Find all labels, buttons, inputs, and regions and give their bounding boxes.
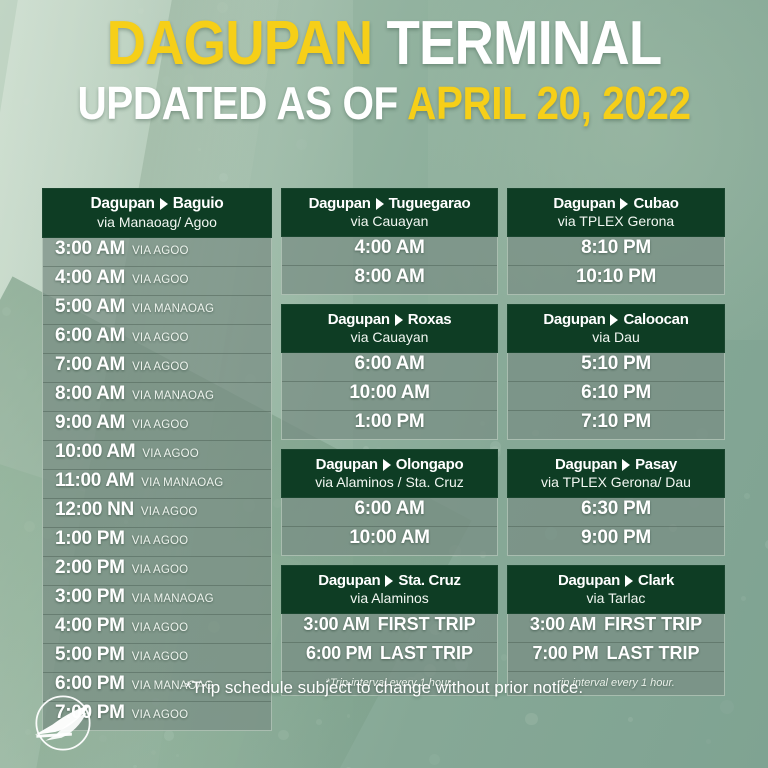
table-row: 8:10 PM (508, 237, 724, 266)
title-line-2: UPDATED AS OF APRIL 20, 2022 (69, 80, 699, 126)
table-row: 6:00 PMLAST TRIP (282, 643, 497, 672)
schedule-board: DagupanBaguiovia Manaoag/ Agoo3:00 AMVIA… (42, 188, 726, 731)
route-note: VIA AGOO (132, 274, 189, 286)
bird-swoosh-logo (26, 686, 100, 760)
table-row: 10:00 AM (282, 527, 497, 555)
route-destination: Tuguegarao (389, 195, 471, 212)
route-origin: Dagupan (555, 456, 617, 473)
route-via: via Alaminos / Sta. Cruz (285, 474, 494, 490)
departure-time: 4:00 PM (55, 615, 125, 637)
route-section-sta-cruz: DagupanSta. Cruzvia Alaminos3:00 AMFIRST… (281, 565, 498, 696)
route-section-clark: DagupanClarkvia Tarlac3:00 AMFIRST TRIP7… (507, 565, 725, 696)
departure-times-list: 3:00 AMVIA AGOO4:00 AMVIA AGOO5:00 AMVIA… (42, 238, 272, 731)
departure-time: 8:00 AM (55, 383, 125, 405)
arrow-right-icon (610, 314, 618, 326)
route-origin: Dagupan (316, 456, 378, 473)
route-destination: Roxas (408, 311, 452, 328)
title-updated-as-of: UPDATED AS OF (77, 77, 397, 129)
departure-time: 7:00 PM (533, 643, 599, 664)
table-row: 5:00 AMVIA MANAOAG (43, 296, 271, 325)
table-row: 10:00 AM (282, 382, 497, 411)
arrow-right-icon (160, 198, 168, 210)
departure-times-list: 6:00 AM10:00 AM (281, 498, 498, 556)
arrow-right-icon (395, 314, 403, 326)
route-header: DagupanOlongapovia Alaminos / Sta. Cruz (281, 449, 498, 498)
departure-time: 7:10 PM (581, 411, 651, 433)
route-header: DagupanPasayvia TPLEX Gerona/ Dau (507, 449, 725, 498)
route-origin: Dagupan (543, 311, 605, 328)
route-section-caloocan: DagupanCaloocanvia Dau5:10 PM6:10 PM7:10… (507, 304, 725, 440)
route-title: DagupanSta. Cruz (285, 572, 494, 589)
table-row: 6:00 AMVIA AGOO (43, 325, 271, 354)
route-via: via Dau (511, 329, 721, 345)
table-row: 1:00 PM (282, 411, 497, 439)
route-header: DagupanBaguiovia Manaoag/ Agoo (42, 188, 272, 238)
route-via: via TPLEX Gerona (511, 213, 721, 229)
route-title: DagupanPasay (511, 456, 721, 473)
departure-time: 6:00 AM (55, 325, 125, 347)
route-via: via TPLEX Gerona/ Dau (511, 474, 721, 490)
departure-time: 11:00 AM (55, 470, 134, 492)
route-note: VIA MANAOAG (132, 303, 214, 315)
table-row: 7:00 AMVIA AGOO (43, 354, 271, 383)
route-note: VIA MANAOAG (141, 477, 223, 489)
table-row: 9:00 PM (508, 527, 724, 555)
table-row: 10:10 PM (508, 266, 724, 294)
departure-time: 5:00 PM (55, 644, 125, 666)
table-row: 7:10 PM (508, 411, 724, 439)
route-header: DagupanClarkvia Tarlac (507, 565, 725, 614)
route-section-pasay: DagupanPasayvia TPLEX Gerona/ Dau6:30 PM… (507, 449, 725, 556)
route-via: via Manaoag/ Agoo (46, 214, 268, 230)
departure-time: 6:00 AM (354, 353, 424, 375)
arrow-right-icon (625, 575, 633, 587)
table-row: 4:00 AM (282, 237, 497, 266)
departure-times-list: 6:00 AM10:00 AM1:00 PM (281, 353, 498, 440)
route-note: VIA AGOO (132, 535, 189, 547)
route-title: DagupanRoxas (285, 311, 494, 328)
column-1: DagupanBaguiovia Manaoag/ Agoo3:00 AMVIA… (42, 188, 272, 731)
title-dagupan: DAGUPAN (107, 9, 373, 78)
departure-time: 10:10 PM (576, 266, 656, 288)
route-origin: Dagupan (91, 195, 155, 213)
route-origin: Dagupan (309, 195, 371, 212)
departure-time: 4:00 AM (55, 267, 125, 289)
table-row: 7:00 PMLAST TRIP (508, 643, 724, 672)
departure-time: 1:00 PM (355, 411, 425, 433)
arrow-right-icon (620, 198, 628, 210)
route-note: VIA AGOO (132, 564, 189, 576)
table-row: 12:00 NNVIA AGOO (43, 499, 271, 528)
departure-time: 10:00 AM (55, 441, 135, 463)
disclaimer-note: *Trip schedule subject to change without… (0, 678, 768, 698)
trip-label: FIRST TRIP (378, 614, 476, 635)
route-section-cubao: DagupanCubaovia TPLEX Gerona8:10 PM10:10… (507, 188, 725, 295)
arrow-right-icon (385, 575, 393, 587)
departure-times-list: 6:30 PM9:00 PM (507, 498, 725, 556)
route-note: VIA AGOO (132, 709, 189, 721)
departure-time: 2:00 PM (55, 557, 125, 579)
route-section-roxas: DagupanRoxasvia Cauayan6:00 AM10:00 AM1:… (281, 304, 498, 440)
departure-time: 6:00 PM (306, 643, 372, 664)
table-row: 10:00 AMVIA AGOO (43, 441, 271, 470)
arrow-right-icon (376, 198, 384, 210)
route-origin: Dagupan (558, 572, 620, 589)
route-via: via Tarlac (511, 590, 721, 606)
departure-time: 6:00 AM (354, 498, 424, 520)
departure-time: 10:00 AM (349, 527, 429, 549)
table-row: 9:00 AMVIA AGOO (43, 412, 271, 441)
departure-time: 7:00 AM (55, 354, 125, 376)
route-destination: Clark (638, 572, 674, 589)
table-row: 11:00 AMVIA MANAOAG (43, 470, 271, 499)
route-note: VIA AGOO (132, 419, 189, 431)
route-note: VIA AGOO (132, 361, 189, 373)
route-title: DagupanTuguegarao (285, 195, 494, 212)
table-row: 6:00 AM (282, 353, 497, 382)
route-note: VIA MANAOAG (132, 390, 214, 402)
departure-time: 8:10 PM (581, 237, 651, 259)
route-note: VIA AGOO (142, 448, 199, 460)
trip-label: LAST TRIP (606, 643, 699, 664)
route-destination: Pasay (635, 456, 677, 473)
route-title: DagupanCubao (511, 195, 721, 212)
departure-time: 3:00 AM (303, 614, 369, 635)
departure-time: 5:10 PM (581, 353, 651, 375)
route-note: VIA AGOO (141, 506, 198, 518)
route-destination: Cubao (633, 195, 678, 212)
departure-time: 12:00 NN (55, 499, 134, 521)
departure-time: 9:00 PM (581, 527, 651, 549)
route-note: VIA AGOO (132, 622, 189, 634)
table-row: 6:00 AM (282, 498, 497, 527)
departure-times-list: 5:10 PM6:10 PM7:10 PM (507, 353, 725, 440)
table-row: 4:00 AMVIA AGOO (43, 267, 271, 296)
title-date: APRIL 20, 2022 (407, 77, 690, 129)
departure-time: 3:00 AM (55, 238, 125, 260)
route-title: DagupanBaguio (46, 195, 268, 213)
departure-time: 8:00 AM (354, 266, 424, 288)
route-origin: Dagupan (553, 195, 615, 212)
table-row: 3:00 AMVIA AGOO (43, 238, 271, 267)
column-3: DagupanCubaovia TPLEX Gerona8:10 PM10:10… (507, 188, 725, 731)
departure-time: 9:00 AM (55, 412, 125, 434)
route-note: VIA MANAOAG (132, 593, 214, 605)
route-note: VIA AGOO (132, 332, 189, 344)
route-note: VIA AGOO (132, 245, 189, 257)
table-row: 4:00 PMVIA AGOO (43, 615, 271, 644)
departure-time: 6:30 PM (581, 498, 651, 520)
table-row: 2:00 PMVIA AGOO (43, 557, 271, 586)
table-row: 8:00 AMVIA MANAOAG (43, 383, 271, 412)
table-row: 6:30 PM (508, 498, 724, 527)
route-via: via Cauayan (285, 213, 494, 229)
table-row: 3:00 PMVIA MANAOAG (43, 586, 271, 615)
route-title: DagupanClark (511, 572, 721, 589)
route-header: DagupanCubaovia TPLEX Gerona (507, 188, 725, 237)
route-via: via Cauayan (285, 329, 494, 345)
route-section-olongapo: DagupanOlongapovia Alaminos / Sta. Cruz6… (281, 449, 498, 556)
departure-time: 6:10 PM (581, 382, 651, 404)
route-destination: Baguio (173, 195, 224, 213)
departure-time: 5:00 AM (55, 296, 125, 318)
route-header: DagupanCaloocanvia Dau (507, 304, 725, 353)
route-header: DagupanTuguegaraovia Cauayan (281, 188, 498, 237)
table-row: 3:00 AMFIRST TRIP (282, 614, 497, 643)
trip-label: LAST TRIP (380, 643, 473, 664)
trip-label: FIRST TRIP (604, 614, 702, 635)
route-title: DagupanCaloocan (511, 311, 721, 328)
departure-times-list: 4:00 AM8:00 AM (281, 237, 498, 295)
title-line-1: DAGUPAN TERMINAL (69, 14, 699, 74)
arrow-right-icon (383, 459, 391, 471)
route-destination: Caloocan (623, 311, 688, 328)
table-row: 8:00 AM (282, 266, 497, 294)
arrow-right-icon (622, 459, 630, 471)
route-origin: Dagupan (318, 572, 380, 589)
route-via: via Alaminos (285, 590, 494, 606)
departure-time: 10:00 AM (349, 382, 429, 404)
route-section-tuguegarao: DagupanTuguegaraovia Cauayan4:00 AM8:00 … (281, 188, 498, 295)
table-row: 6:10 PM (508, 382, 724, 411)
departure-times-list: 8:10 PM10:10 PM (507, 237, 725, 295)
route-section-baguio: DagupanBaguiovia Manaoag/ Agoo3:00 AMVIA… (42, 188, 272, 731)
table-row: 3:00 AMFIRST TRIP (508, 614, 724, 643)
route-header: DagupanRoxasvia Cauayan (281, 304, 498, 353)
departure-time: 4:00 AM (354, 237, 424, 259)
route-destination: Sta. Cruz (398, 572, 460, 589)
route-origin: Dagupan (328, 311, 390, 328)
departure-time: 3:00 AM (530, 614, 596, 635)
table-row: 1:00 PMVIA AGOO (43, 528, 271, 557)
route-title: DagupanOlongapo (285, 456, 494, 473)
table-row: 5:10 PM (508, 353, 724, 382)
route-note: VIA AGOO (132, 651, 189, 663)
departure-time: 1:00 PM (55, 528, 125, 550)
departure-time: 3:00 PM (55, 586, 125, 608)
route-destination: Olongapo (396, 456, 464, 473)
column-2: DagupanTuguegaraovia Cauayan4:00 AM8:00 … (281, 188, 498, 731)
title-terminal: TERMINAL (387, 9, 662, 78)
route-header: DagupanSta. Cruzvia Alaminos (281, 565, 498, 614)
table-row: 5:00 PMVIA AGOO (43, 644, 271, 673)
page-title: DAGUPAN TERMINAL UPDATED AS OF APRIL 20,… (0, 14, 768, 126)
